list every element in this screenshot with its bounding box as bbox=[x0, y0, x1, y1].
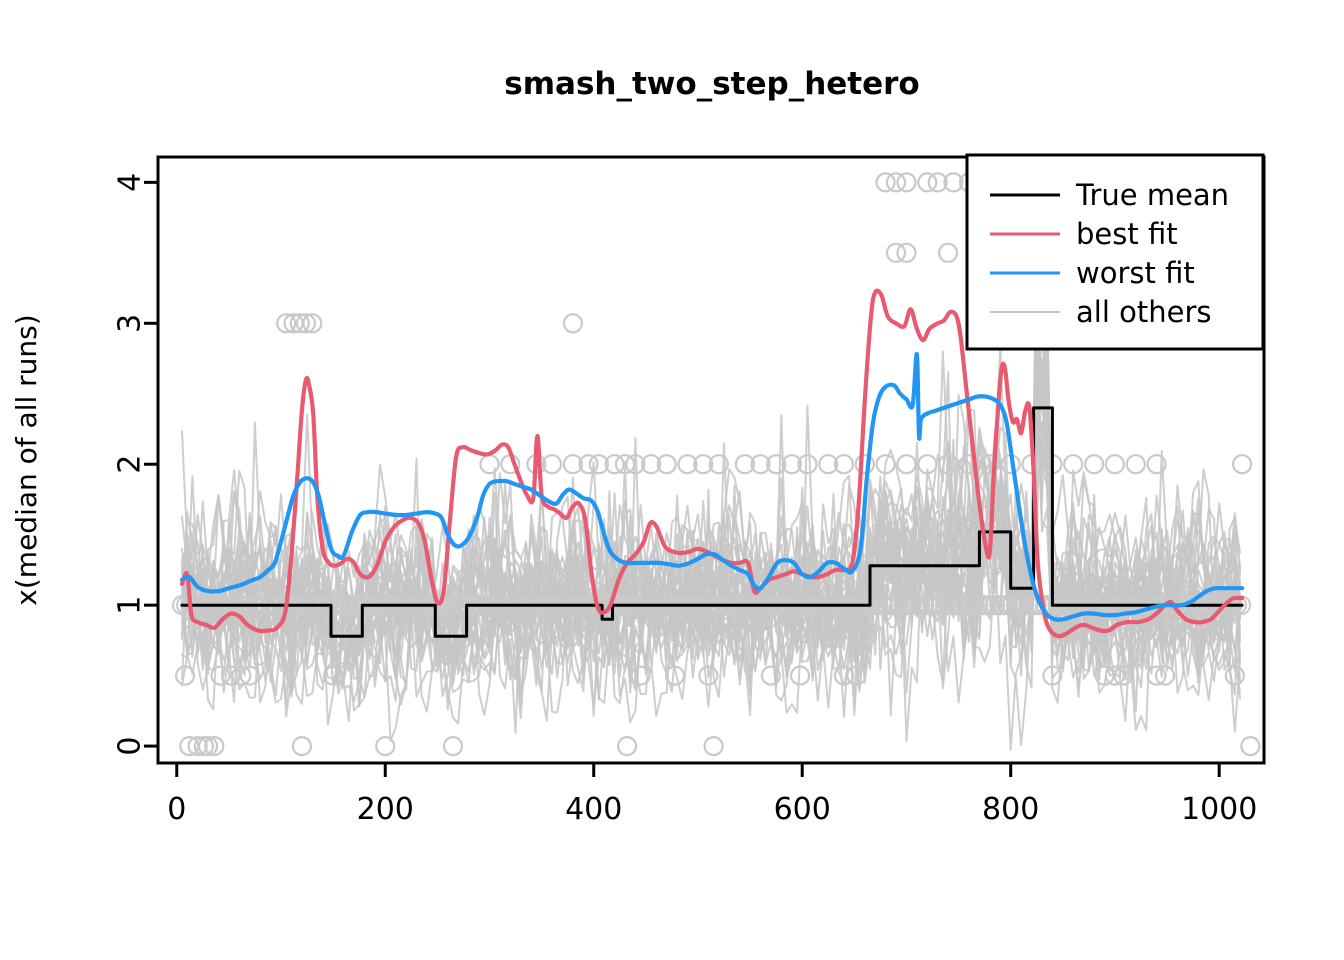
x-tick-label-200: 200 bbox=[357, 792, 414, 827]
page-title: smash_two_step_hetero bbox=[504, 66, 919, 102]
legend-label-all-others[interactable]: all others bbox=[1076, 295, 1211, 329]
chart-svg: smash_two_step_hetero x(median of all ru… bbox=[0, 0, 1344, 960]
x-tick-label-0: 0 bbox=[167, 792, 186, 827]
legend-label-worst-fit[interactable]: worst fit bbox=[1076, 256, 1195, 290]
chart-background bbox=[0, 0, 1344, 960]
y-axis-title: x(median of all runs) bbox=[10, 314, 43, 605]
y-tick-label-0: 0 bbox=[113, 737, 148, 756]
x-tick-label-600: 600 bbox=[774, 792, 831, 827]
y-tick-label-3: 3 bbox=[113, 314, 148, 333]
x-tick-label-1000: 1000 bbox=[1181, 792, 1257, 827]
y-tick-label-4: 4 bbox=[113, 173, 148, 192]
legend-label-best-fit[interactable]: best fit bbox=[1076, 217, 1178, 251]
figure-container: smash_two_step_hetero x(median of all ru… bbox=[0, 0, 1344, 960]
y-tick-label-1: 1 bbox=[113, 596, 148, 615]
x-tick-label-400: 400 bbox=[565, 792, 622, 827]
x-tick-label-800: 800 bbox=[982, 792, 1039, 827]
legend-label-true-mean[interactable]: True mean bbox=[1075, 178, 1229, 212]
chart-legend[interactable]: True meanbest fitworst fitall others bbox=[967, 155, 1263, 349]
y-tick-label-2: 2 bbox=[113, 455, 148, 474]
